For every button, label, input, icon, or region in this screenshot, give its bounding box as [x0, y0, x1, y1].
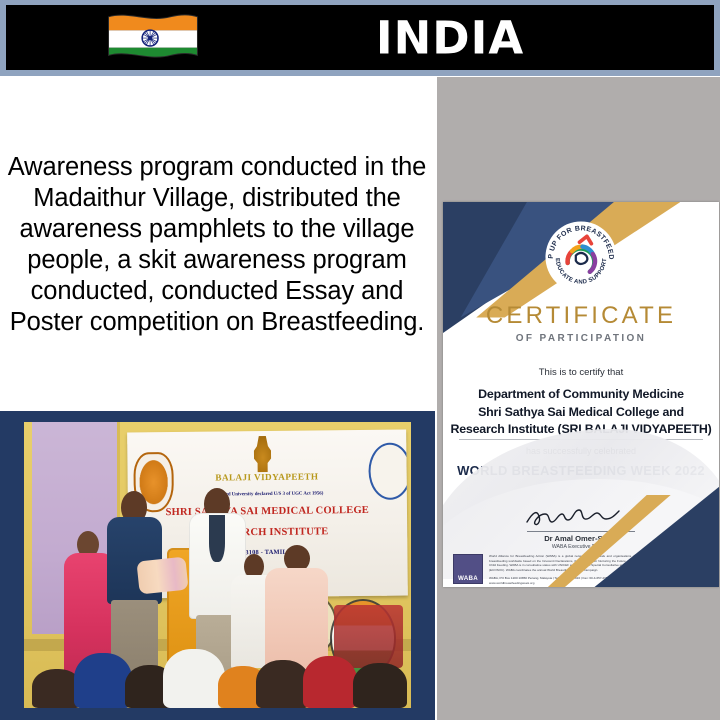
recipient-line-2: Shri Sathya Sai Medical College and	[449, 404, 713, 422]
page-title: INDIA	[6, 11, 714, 64]
waba-logo-icon: WABA	[453, 554, 483, 584]
audience-head	[163, 649, 225, 708]
participation-certificate: · STEP UP FOR BREASTFEEDING · · EDUCATE …	[443, 202, 719, 587]
audience-head	[74, 653, 132, 708]
certificate-subtitle: OF PARTICIPATION	[443, 333, 719, 344]
person-collar	[209, 515, 225, 562]
header-banner: INDIA	[0, 0, 720, 76]
recipient-line-1: Department of Community Medicine	[449, 386, 713, 404]
header-inner: INDIA	[6, 5, 714, 70]
certificate-certify-line: This is to certify that	[443, 367, 719, 378]
audience-head	[353, 663, 407, 708]
skit-awareness-program-photo: BALAJI VIDYAPEETH ( Deemed University de…	[24, 422, 411, 708]
banner-line-1: BALAJI VIDYAPEETH	[128, 471, 407, 484]
poster-page: INDIA Awareness program conducted in the…	[0, 0, 720, 720]
national-emblem-icon	[250, 435, 275, 472]
photo-frame: BALAJI VIDYAPEETH ( Deemed University de…	[0, 411, 435, 720]
audience-head	[303, 656, 357, 708]
banner-line-4: RESEARCH INSTITUTE	[129, 525, 408, 539]
description-text: Awareness program conducted in the Madai…	[6, 152, 428, 339]
demonstration-doll	[136, 556, 189, 594]
certificate-title: CERTIFICATE	[443, 302, 719, 330]
certificate-panel: · STEP UP FOR BREASTFEEDING · · EDUCATE …	[435, 77, 720, 720]
description-panel: Awareness program conducted in the Madai…	[0, 78, 434, 408]
photo-audience	[24, 634, 411, 708]
wbw-2022-step-up-for-breastfeeding-logo: · STEP UP FOR BREASTFEEDING · · EDUCATE …	[544, 220, 618, 294]
banner-line-3: SHRI SATHYA SAI MEDICAL COLLEGE	[128, 504, 407, 518]
